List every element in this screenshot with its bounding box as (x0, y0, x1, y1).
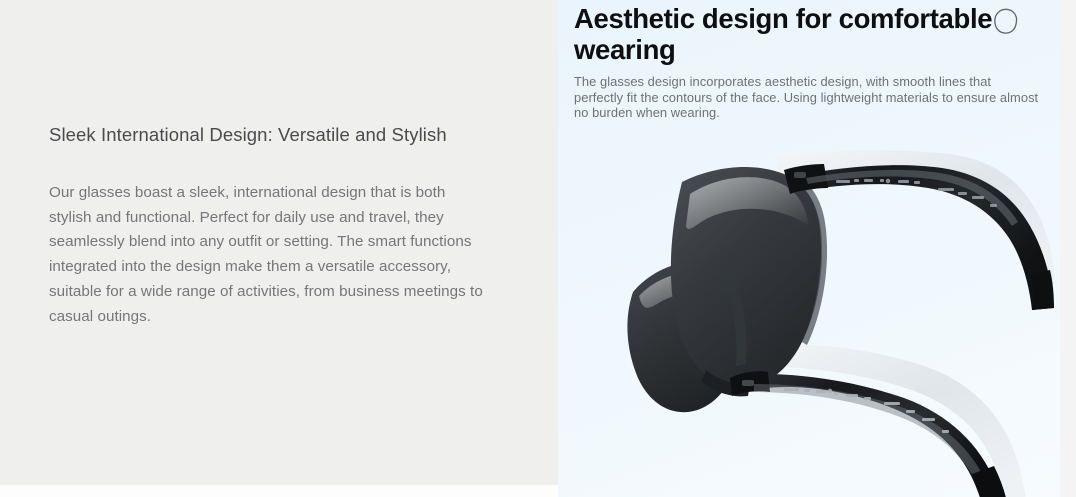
right-panel-title-row: Aesthetic design for comfortable wearing (574, 3, 1044, 65)
left-panel-heading: Sleek International Design: Versatile an… (49, 122, 494, 148)
right-panel-header: Aesthetic design for comfortable wearing… (574, 3, 1044, 121)
right-panel-body-text: The glasses design incorporates aestheti… (574, 65, 1042, 121)
product-feature-screen: Sleek International Design: Versatile an… (0, 0, 1076, 497)
left-panel-bottom-strip (0, 485, 558, 497)
product-image-smart-sunglasses (598, 134, 1060, 497)
left-panel-body-text: Our glasses boast a sleek, international… (49, 148, 489, 329)
right-feature-panel: Aesthetic design for comfortable wearing… (558, 0, 1060, 497)
right-panel-title: Aesthetic design for comfortable wearing (574, 3, 1026, 65)
left-feature-panel: Sleek International Design: Versatile an… (0, 0, 558, 485)
left-panel-content: Sleek International Design: Versatile an… (49, 122, 494, 329)
right-edge-strip (1060, 0, 1076, 497)
